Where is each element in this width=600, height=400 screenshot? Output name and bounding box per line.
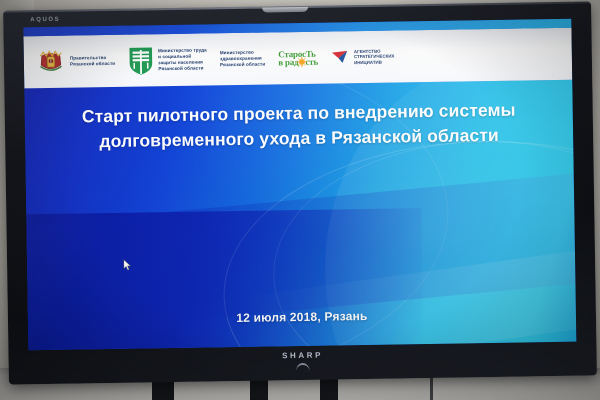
logo-ministry-health-label: Министерство здравоохранения Рязанской о… [220,49,266,68]
bezel-top-bump [262,7,308,13]
television: AQUOS SHARP [3,1,597,384]
coat-of-arms-icon [36,47,66,77]
logo-ministry-labour: Министерство труда и социальной защиты н… [128,44,207,75]
logo-asi: АГЕНТСТВО СТРАТЕГИЧЕСКИХ ИНИЦИАТИВ [331,48,395,66]
logo-ryazan-government: Правительство Рязанской области [36,46,116,77]
logo-asi-label: АГЕНТСТВО СТРАТЕГИЧЕСКИХ ИНИЦИАТИВ [354,48,395,65]
aquos-brand-label: AQUOS [30,17,60,23]
asi-arrow-icon [331,49,351,65]
green-shield-emblem-icon [128,45,154,75]
slide-title: Старт пилотного проекта по внедрению сис… [25,97,574,156]
logo-starost-line2-a: в рад [278,58,298,66]
logo-ministry-health: Министерство здравоохранения Рязанской о… [220,49,266,68]
photo-scene: AQUOS SHARP [0,0,600,400]
tv-screen[interactable]: Правительство Рязанской области [23,19,576,351]
ir-receiver-chevron-icon [296,363,310,372]
slide-logo-band: Правительство Рязанской области [24,28,573,89]
mouse-pointer-icon[interactable] [123,259,132,272]
logo-ministry-labour-label: Министерство труда и социальной защиты н… [158,47,207,73]
presentation-slide: Правительство Рязанской области [23,19,576,351]
logo-ryazan-government-label: Правительство Рязанской области [70,55,115,68]
logo-starost-line2-b: сть [305,58,318,66]
logo-starost-line2: в рад сть [278,58,318,67]
logo-starost-v-radost: СтаросТь в рад сть [278,50,318,67]
sun-icon [299,59,305,65]
